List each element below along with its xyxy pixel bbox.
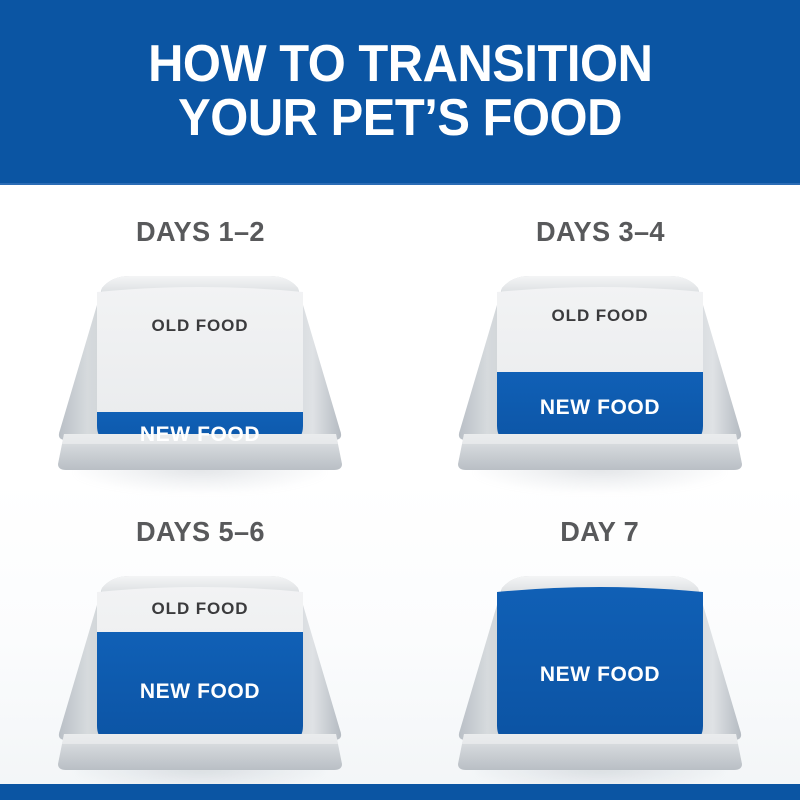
bowl-3: OLD FOOD NEW FOOD	[50, 558, 350, 778]
step-label-2: DAYS 3–4	[536, 216, 665, 248]
infographic-page: HOW TO TRANSITION YOUR PET’S FOOD DAYS 1…	[0, 0, 800, 800]
bowl-graphic-1	[50, 258, 350, 478]
step-label-3: DAYS 5–6	[136, 516, 265, 548]
footer-bar	[0, 784, 800, 800]
steps-grid: DAYS 1–2	[0, 185, 800, 784]
bowl-graphic-3	[50, 558, 350, 778]
step-label-1: DAYS 1–2	[136, 216, 265, 248]
step-card-4: DAY 7	[400, 485, 800, 784]
header-banner: HOW TO TRANSITION YOUR PET’S FOOD	[0, 0, 800, 185]
step-card-2: DAYS 3–4	[400, 185, 800, 485]
bowl-4: NEW FOOD	[450, 558, 750, 778]
step-label-4: DAY 7	[561, 516, 640, 548]
bowl-2: OLD FOOD NEW FOOD	[450, 258, 750, 478]
page-title-line-2: YOUR PET’S FOOD	[178, 94, 622, 144]
page-title-line-1: HOW TO TRANSITION	[148, 40, 652, 90]
step-card-1: DAYS 1–2	[0, 185, 400, 485]
step-card-3: DAYS 5–6	[0, 485, 400, 784]
bowl-graphic-2	[450, 258, 750, 478]
bowl-graphic-4	[450, 558, 750, 778]
bowl-1: OLD FOOD NEW FOOD	[50, 258, 350, 478]
